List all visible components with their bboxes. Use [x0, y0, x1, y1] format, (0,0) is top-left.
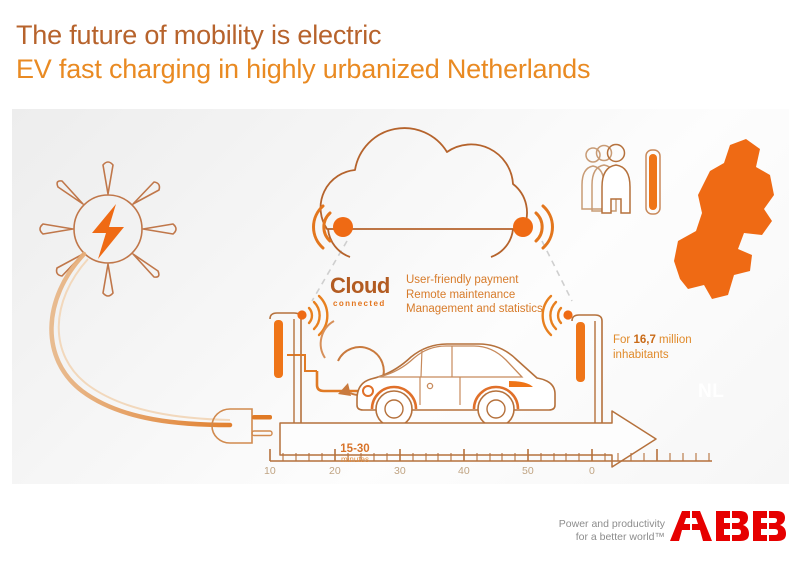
charging-station-left: [270, 313, 372, 431]
infographic-artwork: [12, 109, 789, 484]
map-country-label: NL: [698, 381, 724, 403]
abb-tagline: Power and productivity for a better worl…: [559, 518, 665, 544]
charge-time-label: 15-30 minutes: [333, 443, 377, 465]
title-line-1: The future of mobility is electric: [16, 18, 590, 52]
ruler-label: 30: [394, 465, 406, 477]
wifi-signal-icon: [297, 296, 327, 335]
dashed-link-right: [542, 241, 572, 301]
inhabitants-suffix: million: [656, 334, 692, 346]
lightning-bolt-icon: [92, 204, 124, 259]
title-line-2: EV fast charging in highly urbanized Net…: [16, 52, 590, 86]
inhabitants-line2: inhabitants: [613, 349, 669, 361]
inhabitants-label: For 16,7 million inhabitants: [613, 333, 718, 362]
electric-car-icon: [357, 344, 555, 427]
cloud-feature-item: Management and statistics: [406, 302, 543, 317]
wifi-signal-icon-right: [543, 296, 573, 335]
cloud-feature-item: Remote maintenance: [406, 288, 543, 303]
cloud-feature-list: User-friendly payment Remote maintenance…: [406, 273, 543, 317]
cloud-title: Cloud: [330, 273, 390, 299]
cloud-feature-item: User-friendly payment: [406, 273, 543, 288]
solar-cable: [51, 254, 230, 425]
charging-station-right: [572, 315, 602, 431]
ruler-label: 10: [264, 465, 276, 477]
tagline-line-2: for a better world™: [559, 531, 665, 544]
charge-time-unit: minutes: [333, 455, 377, 465]
ruler-label: 50: [522, 465, 534, 477]
charge-bar-indicator: [646, 150, 660, 214]
netherlands-map-shape: [674, 139, 774, 299]
infographic-panel: Cloud connected User-friendly payment Re…: [12, 109, 789, 484]
ruler-label: 20: [329, 465, 341, 477]
people-group-icon: [582, 145, 630, 214]
cloud-subtitle: connected: [333, 299, 386, 308]
abb-logo: [668, 509, 786, 548]
page-title: The future of mobility is electric EV fa…: [16, 18, 590, 86]
cloud-shape: [321, 128, 527, 229]
cloud-node-right: [513, 206, 552, 248]
ruler-label: 0: [589, 465, 595, 477]
solar-cable-highlight: [59, 259, 230, 420]
inhabitants-value: 16,7: [633, 334, 655, 346]
inhabitants-prefix: For: [613, 334, 633, 346]
tagline-line-1: Power and productivity: [559, 518, 665, 531]
charge-time-value: 15-30: [333, 443, 377, 455]
ruler-label: 40: [458, 465, 470, 477]
